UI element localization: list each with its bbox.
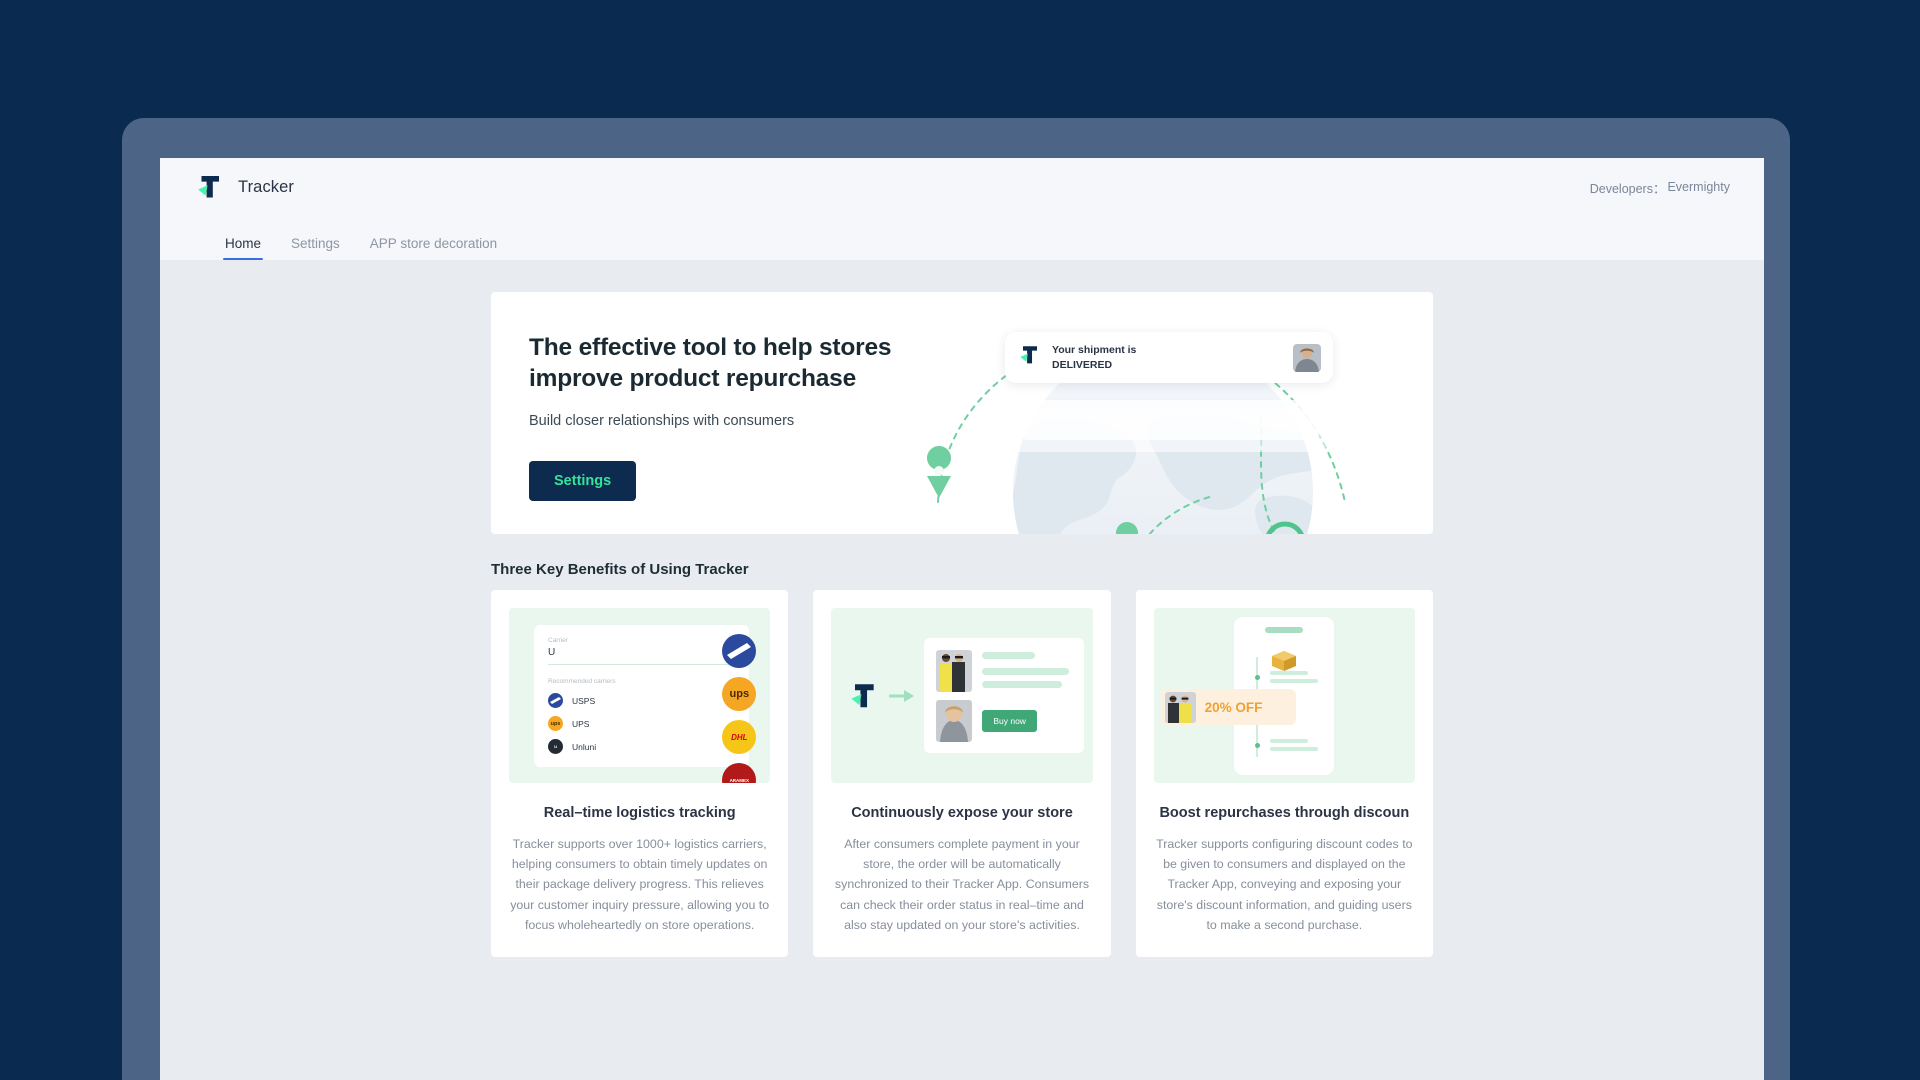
usps-icon xyxy=(548,693,563,708)
hero-text: The effective tool to help stores improv… xyxy=(491,292,921,534)
placeholder-bar xyxy=(1270,747,1318,751)
aramex-logo-icon: ARAMEX xyxy=(722,763,756,783)
tab-settings[interactable]: Settings xyxy=(289,237,342,261)
settings-button[interactable]: Settings xyxy=(529,461,636,501)
card-title: Boost repurchases through discoun xyxy=(1159,805,1409,821)
placeholder-bar xyxy=(1270,671,1308,675)
carrier-picker-panel: ✕ Carrier U Recommended carriers USPS xyxy=(534,625,749,767)
recommended-carriers-label: Recommended carriers xyxy=(548,678,735,685)
tracker-t-logo-icon xyxy=(194,172,224,202)
timeline-text-lines xyxy=(1270,671,1318,687)
tracker-t-logo-icon xyxy=(847,680,879,712)
usps-logo-icon xyxy=(722,634,756,668)
benefits-heading: Three Key Benefits of Using Tracker xyxy=(491,561,1433,578)
carrier-picker-illustration: ✕ Carrier U Recommended carriers USPS xyxy=(509,608,770,783)
buy-now-button[interactable]: Buy now xyxy=(982,710,1037,732)
shipment-notification-card: Your shipment is DELIVERED xyxy=(1005,332,1333,383)
carrier-option-ups[interactable]: ups UPS xyxy=(548,716,735,731)
feed-item xyxy=(936,650,1072,692)
tab-app-store-decoration[interactable]: APP store decoration xyxy=(368,237,499,261)
arrow-right-icon xyxy=(889,688,915,709)
dhl-logo-icon: DHL xyxy=(722,720,756,754)
fashion-photo-2 xyxy=(936,700,972,742)
ups-logo-icon: ups xyxy=(722,677,756,711)
card-title: Real–time logistics tracking xyxy=(544,805,736,821)
developers-label: Developers： xyxy=(1590,178,1666,197)
carrier-option-unluni[interactable]: u Unluni xyxy=(548,739,735,754)
placeholder-bar xyxy=(982,668,1068,675)
field-underline xyxy=(548,664,735,665)
carrier-field-label: Carrier xyxy=(548,637,735,644)
brand-name: Tracker xyxy=(238,178,294,197)
hero-subtitle: Build closer relationships with consumer… xyxy=(529,413,921,429)
notification-line-1: Your shipment is xyxy=(1052,343,1282,357)
carrier-name: UPS xyxy=(572,719,589,729)
developers-info: Developers： Evermighty xyxy=(1590,178,1730,197)
phone-notch xyxy=(1265,627,1303,633)
benefit-card-repurchase: 20% OFF Boost repurchases through discou… xyxy=(1136,590,1433,957)
ups-icon: ups xyxy=(548,716,563,731)
fashion-photo-1 xyxy=(936,650,972,692)
store-exposure-illustration: Buy now xyxy=(831,608,1092,783)
developers-value: Evermighty xyxy=(1667,180,1730,194)
app-window: Tracker Developers： Evermighty Home Sett… xyxy=(160,158,1764,1080)
unluni-icon: u xyxy=(548,739,563,754)
fashion-photo-1 xyxy=(1165,692,1196,723)
carrier-logo-stack: ups DHL ARAMEX xyxy=(722,634,756,783)
card-body: Tracker supports over 1000+ logistics ca… xyxy=(509,834,770,935)
card-body: Tracker supports configuring discount co… xyxy=(1154,834,1415,935)
benefit-card-logistics: ✕ Carrier U Recommended carriers USPS xyxy=(491,590,788,957)
feed-item: Buy now xyxy=(936,700,1072,742)
placeholder-bar xyxy=(1270,739,1308,743)
carrier-name: USPS xyxy=(572,696,595,706)
hero-title: The effective tool to help stores improv… xyxy=(529,332,921,394)
carrier-name: Unluni xyxy=(572,742,596,752)
tab-home[interactable]: Home xyxy=(223,237,263,261)
discount-label: 20% OFF xyxy=(1205,700,1263,715)
brand: Tracker xyxy=(194,172,294,202)
placeholder-bar xyxy=(1270,679,1318,683)
benefit-card-exposure: Buy now Continuously expose your store A… xyxy=(813,590,1110,957)
tab-bar: Home Settings APP store decoration xyxy=(160,216,1764,260)
notification-line-2: DELIVERED xyxy=(1052,358,1282,372)
map-pin-icon xyxy=(927,446,951,498)
top-bar: Tracker Developers： Evermighty xyxy=(160,158,1764,216)
timeline-text-lines xyxy=(1270,739,1318,755)
discount-phone-illustration: 20% OFF xyxy=(1154,608,1415,783)
person-avatar xyxy=(1293,344,1321,372)
benefit-cards: ✕ Carrier U Recommended carriers USPS xyxy=(491,590,1433,957)
discount-badge: 20% OFF xyxy=(1161,689,1296,725)
timeline-dot xyxy=(1255,743,1260,748)
tracker-t-logo-icon xyxy=(1017,343,1041,372)
store-feed-card: Buy now xyxy=(924,638,1084,753)
page-content: The effective tool to help stores improv… xyxy=(160,260,1764,957)
card-body: After consumers complete payment in your… xyxy=(831,834,1092,935)
hero-banner: The effective tool to help stores improv… xyxy=(491,292,1433,534)
timeline-dot xyxy=(1255,675,1260,680)
placeholder-bar xyxy=(982,681,1061,688)
carrier-field-value[interactable]: U xyxy=(548,647,735,658)
carrier-option-usps[interactable]: USPS xyxy=(548,693,735,708)
card-title: Continuously expose your store xyxy=(851,805,1073,821)
hero-illustration: Your shipment is DELIVERED xyxy=(913,292,1433,534)
placeholder-bar xyxy=(982,652,1034,659)
